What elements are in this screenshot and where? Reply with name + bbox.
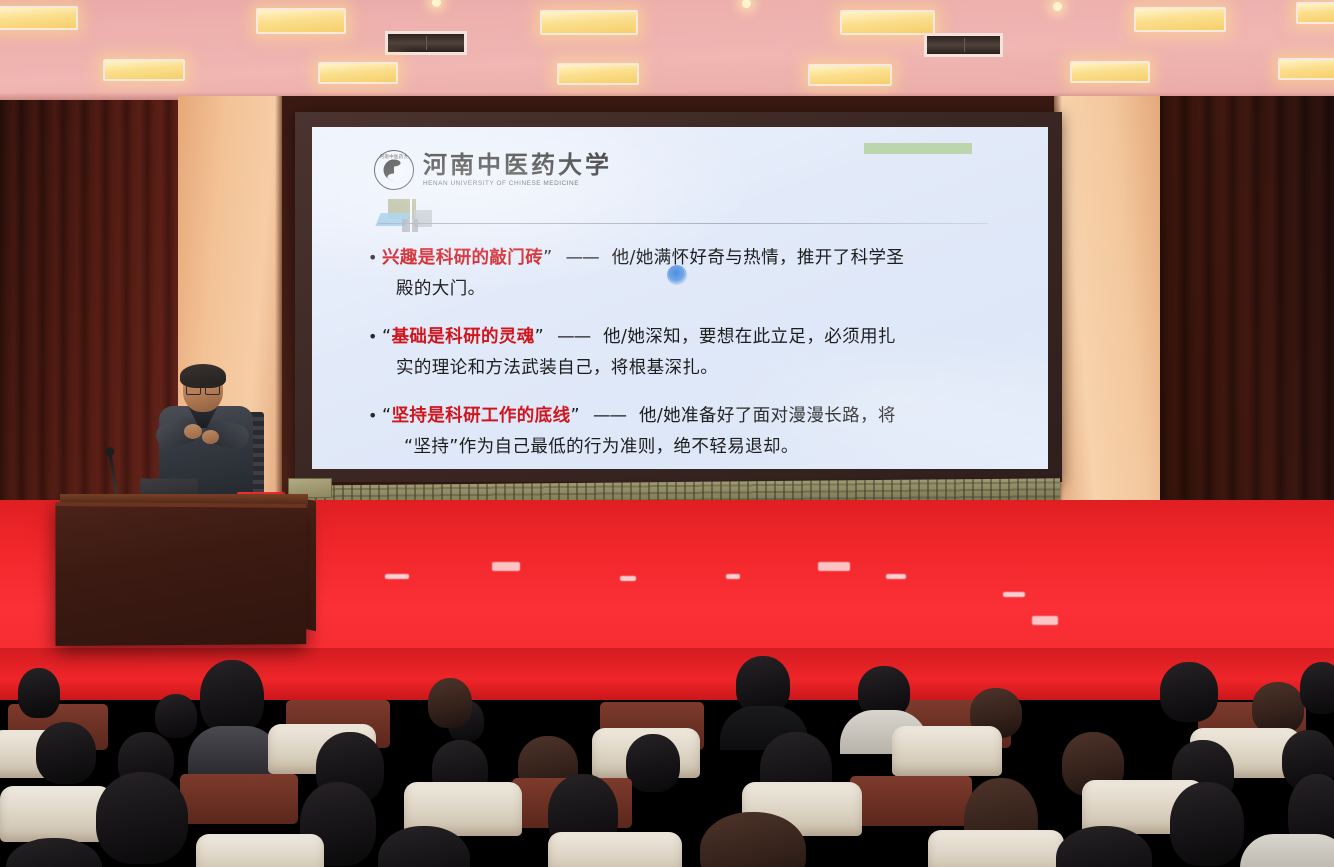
floor-marker — [385, 574, 409, 579]
ceiling-light — [1134, 7, 1226, 32]
audience-shoulders — [1240, 834, 1334, 867]
seat-frame — [180, 774, 298, 824]
ceiling-light — [840, 10, 935, 35]
bullet-line2-2: 实的理论和方法武装自己，将根基深扎。 — [382, 353, 896, 384]
ceiling — [0, 0, 1334, 104]
audience-head — [1170, 782, 1244, 866]
slide-accent-bar — [864, 143, 972, 154]
motif-vertical-line — [410, 197, 412, 233]
presenter-hand-right — [202, 430, 219, 444]
auditorium-scene: 河南中医药大学 河南中医药大学 HENAN UNIVERSITY OF CHIN… — [0, 0, 1334, 867]
spotlight — [432, 0, 441, 7]
floor-marker — [1003, 592, 1025, 597]
bullet-item-3: • “坚持是科研工作的底线”——他/她准备好了面对漫漫长路，将 “坚持”作为自己… — [368, 401, 1004, 463]
audience-area — [0, 648, 1334, 867]
university-name-cn: 河南中医药大学 — [423, 153, 612, 178]
audience-head — [18, 668, 60, 718]
yin-yang-seal-icon: 河南中医药大学 — [374, 150, 414, 190]
university-name-en: HENAN UNIVERSITY OF CHINESE MEDICINE — [423, 180, 612, 187]
bullet-line2-3: “坚持”作为自己最低的行为准则，绝不轻易退却。 — [382, 432, 896, 463]
floor-marker — [726, 574, 740, 579]
audience-seat[interactable] — [892, 726, 1002, 776]
bullet-rest-3: 他/她准备好了面对漫漫长路，将 — [639, 406, 896, 426]
bullet-item-2: • “基础是科研的灵魂”——他/她深知，要想在此立足，必须用扎 实的理论和方法武… — [368, 322, 1004, 384]
ceiling-light — [256, 8, 346, 34]
ceiling-light — [557, 63, 639, 85]
lecture-podium — [56, 502, 307, 646]
floor-marker — [886, 574, 906, 579]
ceiling-light — [103, 59, 185, 81]
ceiling-light — [1296, 2, 1334, 24]
audience-head — [1160, 662, 1218, 722]
audience-seat[interactable] — [928, 830, 1064, 867]
bullet-rest-2: 他/她深知，要想在此立足，必须用扎 — [603, 327, 896, 347]
ceiling-vent — [385, 31, 467, 55]
bullet-text-3: “坚持是科研工作的底线”——他/她准备好了面对漫漫长路，将 “坚持”作为自己最低… — [382, 401, 896, 463]
bullet-dash-2: —— — [557, 327, 590, 347]
bullet-rest-1: 他/她满怀好奇与热情，推开了科学圣 — [612, 248, 905, 268]
bullet-line2-1: 殿的大门。 — [382, 274, 904, 305]
presenter-hand-left — [184, 424, 202, 439]
bullet-text-1: 兴趣是科研的敲门砖”——他/她满怀好奇与热情，推开了科学圣 殿的大门。 — [382, 243, 904, 305]
ceiling-light — [1070, 61, 1150, 83]
audience-head — [36, 722, 96, 784]
audience-head — [626, 734, 680, 792]
bullet-dash-1: —— — [566, 248, 599, 268]
bullet-quote-close-1: ” — [543, 248, 552, 268]
ceiling-light — [808, 64, 892, 86]
spotlight — [1053, 2, 1062, 11]
yin-yang-symbol — [384, 160, 405, 181]
ceiling-light — [318, 62, 398, 84]
ceiling-light — [540, 10, 638, 35]
bullet-marker: • — [368, 322, 382, 384]
laser-pointer-dot-icon — [667, 265, 687, 285]
audience-seat[interactable] — [548, 832, 682, 867]
presentation-slide[interactable]: 河南中医药大学 河南中医药大学 HENAN UNIVERSITY OF CHIN… — [312, 127, 1048, 469]
stage-curtain-right — [1160, 96, 1334, 520]
bullet-highlight-1: 兴趣是科研的敲门砖 — [382, 248, 543, 268]
bullet-highlight-3: 坚持是科研工作的底线 — [391, 406, 570, 426]
floor-marker — [620, 576, 636, 581]
audience-head — [155, 694, 197, 738]
slide-decorative-motif — [374, 199, 460, 233]
bullet-marker: • — [368, 401, 382, 463]
floor-marker — [818, 562, 850, 571]
floor-marker — [492, 562, 520, 571]
ceiling-light — [0, 6, 78, 30]
audience-seat[interactable] — [196, 834, 324, 867]
audience-shoulders — [188, 726, 280, 774]
bullet-quote-close-3: ” — [570, 406, 579, 426]
bullet-dash-3: —— — [593, 406, 626, 426]
spotlight — [742, 0, 751, 8]
audience-head — [428, 678, 472, 728]
audience-head — [96, 772, 188, 864]
audience-head — [200, 660, 264, 734]
bullet-marker: • — [368, 243, 382, 305]
stage-curtain-left — [0, 100, 178, 520]
university-logo: 河南中医药大学 河南中医药大学 HENAN UNIVERSITY OF CHIN… — [374, 150, 612, 190]
ceiling-light — [1278, 58, 1334, 80]
seat-frame — [850, 776, 972, 826]
ceiling-vent — [924, 33, 1003, 57]
eyeglasses-icon — [186, 385, 220, 393]
bullet-highlight-2: 基础是科研的灵魂 — [391, 327, 534, 347]
floor-marker — [1032, 616, 1058, 625]
wall-pillar-right — [1054, 96, 1160, 520]
projection-screen-frame: 河南中医药大学 河南中医药大学 HENAN UNIVERSITY OF CHIN… — [295, 112, 1062, 482]
slide-divider — [378, 223, 988, 224]
audience-head — [1252, 682, 1304, 734]
audience-head — [6, 838, 102, 867]
audience-head — [1300, 662, 1334, 714]
bullet-text-2: “基础是科研的灵魂”——他/她深知，要想在此立足，必须用扎 实的理论和方法武装自… — [382, 322, 896, 384]
bullet-quote-close-2: ” — [535, 327, 544, 347]
